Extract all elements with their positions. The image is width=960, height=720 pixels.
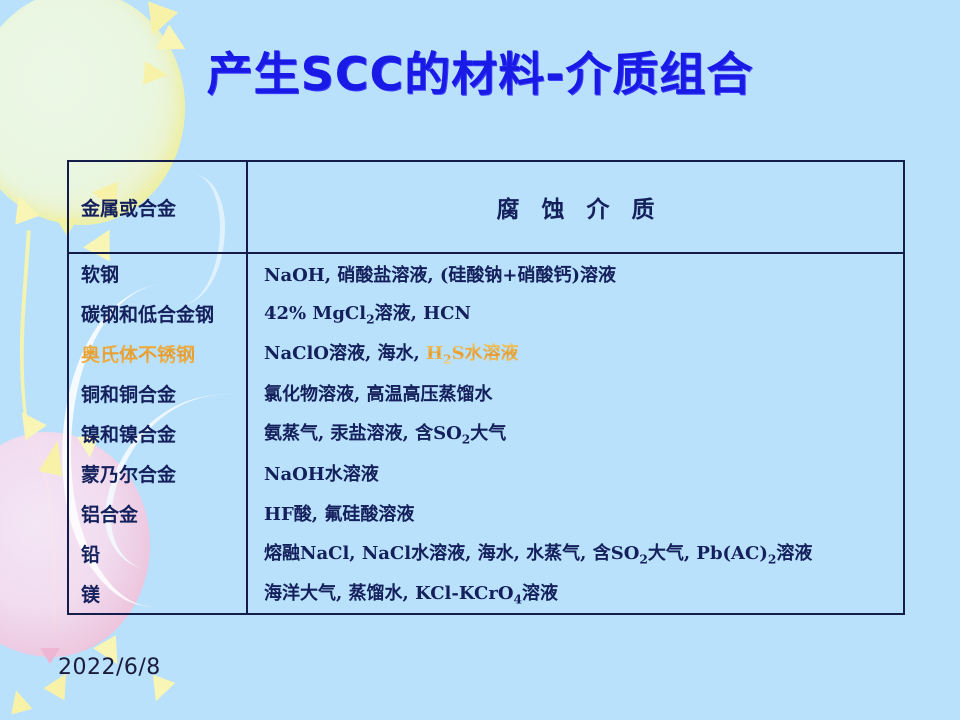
cell-metal: 碳钢和低合金钢 [69,293,247,333]
table-header-row: 金属或合金 腐蚀介质 [69,162,903,253]
slide-title: 产生SCC的材料-介质组合 [0,38,960,104]
cell-medium: NaClO溶液, 海水, H2S水溶液 [247,333,903,373]
cell-metal: 镁 [69,573,247,613]
cell-medium: NaOH, 硝酸盐溶液, (硅酸钠+硝酸钙)溶液 [247,253,903,293]
cell-medium: 熔融NaCl, NaCl水溶液, 海水, 水蒸气, 含SO2大气, Pb(AC)… [247,533,903,573]
balloon-pink-knot-icon [40,648,60,664]
cell-metal: 铝合金 [69,493,247,533]
header-metal: 金属或合金 [69,162,247,253]
confetti-triangle-icon [6,688,33,715]
table-row: 铝合金HF酸, 氟硅酸溶液 [69,493,903,533]
cell-metal: 铅 [69,533,247,573]
cell-metal: 铜和铜合金 [69,373,247,413]
cell-medium: NaOH水溶液 [247,453,903,493]
cell-medium: 42% MgCl2溶液, HCN [247,293,903,333]
cell-metal: 蒙乃尔合金 [69,453,247,493]
cell-metal: 奥氏体不锈钢 [69,333,247,373]
table-row: 铅熔融NaCl, NaCl水溶液, 海水, 水蒸气, 含SO2大气, Pb(AC… [69,533,903,573]
cell-metal: 软钢 [69,253,247,293]
confetti-triangle-icon [39,438,70,476]
cell-medium: 海洋大气, 蒸馏水, KCl-KCrO4溶液 [247,573,903,613]
table-row: 碳钢和低合金钢42% MgCl2溶液, HCN [69,293,903,333]
cell-medium: HF酸, 氟硅酸溶液 [247,493,903,533]
scc-table: 金属或合金 腐蚀介质 软钢NaOH, 硝酸盐溶液, (硅酸钠+硝酸钙)溶液碳钢和… [69,162,903,613]
confetti-triangle-icon [11,405,47,440]
slide-date: 2022/6/8 [58,655,161,680]
cell-metal: 镍和镍合金 [69,413,247,453]
table-body: 软钢NaOH, 硝酸盐溶液, (硅酸钠+硝酸钙)溶液碳钢和低合金钢42% MgC… [69,253,903,613]
cell-medium: 氯化物溶液, 高温高压蒸馏水 [247,373,903,413]
table-row: 蒙乃尔合金NaOH水溶液 [69,453,903,493]
table-row: 镁海洋大气, 蒸馏水, KCl-KCrO4溶液 [69,573,903,613]
table-row: 奥氏体不锈钢NaClO溶液, 海水, H2S水溶液 [69,333,903,373]
table-row: 铜和铜合金氯化物溶液, 高温高压蒸馏水 [69,373,903,413]
scc-table-container: 金属或合金 腐蚀介质 软钢NaOH, 硝酸盐溶液, (硅酸钠+硝酸钙)溶液碳钢和… [67,160,905,615]
confetti-triangle-icon [6,191,39,224]
slide-canvas: 产生SCC的材料-介质组合 金属或合金 腐蚀介质 软钢NaOH, 硝酸盐溶液, … [0,0,960,720]
cell-medium: 氨蒸气, 汞盐溶液, 含SO2大气 [247,413,903,453]
header-medium: 腐蚀介质 [247,162,903,253]
table-row: 镍和镍合金氨蒸气, 汞盐溶液, 含SO2大气 [69,413,903,453]
table-row: 软钢NaOH, 硝酸盐溶液, (硅酸钠+硝酸钙)溶液 [69,253,903,293]
